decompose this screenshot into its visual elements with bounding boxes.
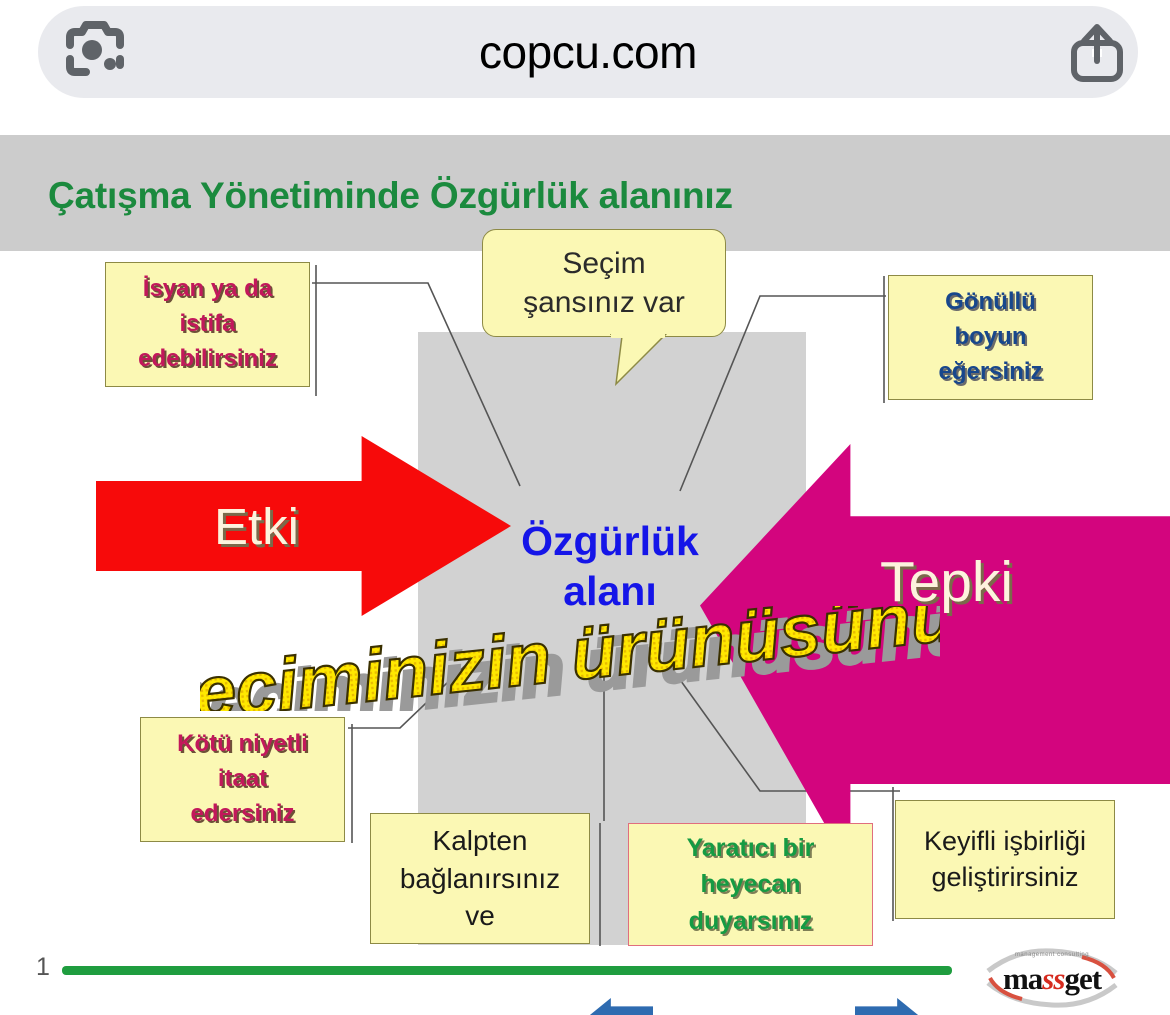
- note-line: istifa: [179, 307, 235, 342]
- svg-text:Seçiminizin ürünüsünüz: Seçiminizin ürünüsünüz: [200, 606, 940, 711]
- note-line: İsyan ya da: [143, 272, 272, 307]
- url-text: copcu.com: [479, 25, 697, 79]
- note-line: eğersiniz: [938, 355, 1042, 390]
- massget-logo: management consulting massget: [982, 945, 1122, 1011]
- browser-toolbar: copcu.com: [0, 0, 1170, 131]
- note-line: edersiniz: [190, 797, 294, 832]
- blue-arrow-right-icon: [855, 998, 923, 1015]
- wordart-seciminizin: Seçiminizin ürünüsünüz Seçiminizin ürünü…: [200, 606, 940, 711]
- note-kalpten: Kalpten bağlanırsınız ve: [370, 813, 590, 944]
- note-kotu-niyetli: Kötü niyetli itaat edersiniz: [140, 717, 345, 842]
- logo-tagline: management consulting: [982, 952, 1122, 958]
- note-isyan: İsyan ya da istifa edebilirsiniz: [105, 262, 310, 387]
- center-label-line1: Özgürlük: [440, 516, 780, 566]
- note-line: duyarsınız: [689, 903, 813, 939]
- note-line: Keyifli işbirliği: [924, 824, 1086, 860]
- logo-accent: ss: [1042, 961, 1064, 996]
- logo-wordmark: massget: [982, 961, 1122, 997]
- speech-bubble-tail: [610, 334, 672, 386]
- arrow-etki-label: Etki: [214, 497, 299, 556]
- slide-canvas: Çatışma Yönetiminde Özgürlük alanınız E: [0, 131, 1170, 1015]
- google-lens-camera-icon[interactable]: [62, 19, 128, 85]
- note-line: heyecan: [700, 866, 800, 902]
- blue-arrow-left-icon: [585, 998, 653, 1015]
- speech-bubble: Seçim şansınız var: [482, 229, 726, 337]
- url-bar[interactable]: copcu.com: [38, 6, 1138, 98]
- note-line: itaat: [218, 762, 267, 797]
- center-label: Özgürlük alanı: [440, 516, 780, 616]
- note-line: Kalpten: [433, 822, 528, 860]
- note-keyifli: Keyifli işbirliği geliştirirsiniz: [895, 800, 1115, 919]
- speech-bubble-line2: şansınız var: [523, 283, 685, 322]
- share-upload-icon[interactable]: [1066, 19, 1128, 85]
- note-yaratici: Yaratıcı bir heyecan duyarsınız: [628, 823, 873, 946]
- note-line: Yaratıcı bir: [687, 830, 815, 866]
- note-line: boyun: [955, 320, 1027, 355]
- footer-rule: [62, 966, 952, 975]
- speech-bubble-line1: Seçim: [562, 244, 645, 283]
- note-line: ve: [465, 897, 495, 935]
- note-gonullu: Gönüllü boyun eğersiniz: [888, 275, 1093, 400]
- note-line: edebilirsiniz: [138, 342, 277, 377]
- note-line: bağlanırsınız: [400, 860, 560, 898]
- note-line: geliştirirsiniz: [931, 860, 1078, 896]
- slide-number: 1: [36, 953, 50, 982]
- page-title: Çatışma Yönetiminde Özgürlük alanınız: [48, 175, 733, 217]
- note-line: Kötü niyetli: [177, 727, 308, 762]
- logo-suffix: get: [1064, 961, 1101, 996]
- note-line: Gönüllü: [945, 285, 1036, 320]
- logo-prefix: ma: [1003, 961, 1042, 996]
